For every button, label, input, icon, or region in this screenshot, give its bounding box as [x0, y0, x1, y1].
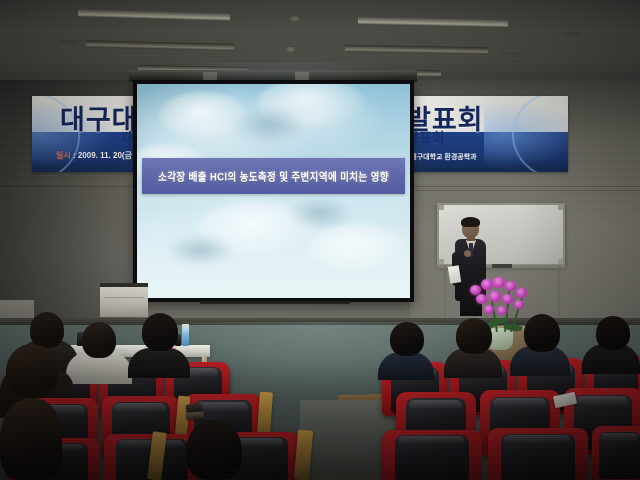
audience-hair — [6, 344, 58, 398]
slide-title-text: 소각장 배출 HCl의 농도측정 및 주변지역에 미치는 영향 — [158, 168, 389, 184]
seat-row1-6 — [592, 426, 640, 480]
audience-hair — [82, 322, 116, 358]
ceiling-light-fixture-2 — [358, 16, 508, 27]
seat-highlight — [576, 396, 627, 407]
audience-hair — [30, 312, 64, 348]
whiteboard-leg-right — [558, 266, 560, 316]
audience-body-3 — [128, 348, 190, 378]
whiteboard-corner-tr — [558, 205, 563, 210]
orchid-bloom-7 — [489, 291, 501, 302]
seat-book-2 — [186, 411, 204, 419]
wall-seam-lower — [415, 190, 640, 191]
screen-housing-cap-right — [295, 72, 309, 80]
audience-head-6 — [456, 318, 492, 354]
table-water-bottle-cap — [182, 324, 189, 327]
seat-highlight — [409, 400, 462, 410]
seat-highlight — [493, 398, 546, 409]
whiteboard-corner-br — [558, 259, 563, 264]
seat-highlight — [398, 436, 464, 445]
cloud-4 — [307, 224, 407, 272]
cloud-shadow-3 — [165, 234, 235, 266]
audience-head-1 — [30, 312, 64, 348]
orchid-bloom-8 — [502, 294, 513, 304]
ceiling-light-fixture-1 — [78, 9, 230, 21]
audience-head-8 — [596, 316, 630, 350]
audience-head-5 — [390, 322, 424, 356]
slide-title-bar: 소각장 배출 HCl의 농도측정 및 주변지역에 미치는 영향 — [142, 158, 405, 194]
cabinet-seam — [104, 297, 144, 298]
ceiling-speaker-1 — [288, 16, 301, 23]
projector-screen-base — [200, 300, 350, 304]
orchid-bloom-5 — [516, 288, 527, 298]
banner-right-dept: : 대구대학교 환경공학과 — [406, 152, 477, 162]
banner-left-date-value: 2009. 11. 20(금 — [78, 151, 132, 160]
presenter-hand — [464, 250, 471, 257]
audience-body-5 — [378, 352, 434, 380]
seat-highlight — [196, 402, 247, 412]
presenter-hair — [461, 217, 480, 227]
projector-screen: 소각장 배출 HCl의 농도측정 및 주변지역에 미치는 영향 — [133, 80, 414, 302]
slide-surface: 소각장 배출 HCl의 농도측정 및 주변지역에 미치는 영향 — [137, 84, 410, 298]
orchid-bloom-11 — [497, 306, 507, 315]
audience-head-foreground-2 — [186, 420, 242, 480]
orchid-bloom-9 — [514, 300, 524, 309]
cloud-shadow-1 — [233, 106, 307, 144]
orchid-bloom-3 — [493, 277, 505, 288]
seat-highlight — [601, 433, 638, 442]
screen-housing-cap-left — [203, 72, 217, 80]
audience-hair — [0, 398, 62, 480]
audience-hair — [186, 420, 242, 480]
banner-left-date-label: 일시 — [56, 151, 71, 160]
ceiling-vent-left — [12, 9, 28, 13]
seat-row1-5 — [488, 428, 588, 480]
orchid-bloom-2 — [481, 279, 493, 290]
orchid-bloom-10 — [484, 305, 494, 314]
ceiling-light-fixture-3 — [86, 40, 234, 51]
banner-left-date: 일시 : 2009. 11. 20(금 — [56, 150, 132, 161]
auditorium-presentation-photo: 대구대 대구 일시 : 2009. 11. 20(금 발표회 발표회 : 대구대… — [0, 0, 640, 480]
seat-highlight — [114, 403, 165, 413]
ceiling-vent-right-2 — [500, 52, 522, 57]
audience-head-3 — [142, 313, 178, 351]
audience-head-2 — [82, 322, 116, 358]
orchid-bloom-4 — [505, 281, 516, 291]
orchid-bloom-6 — [476, 294, 487, 304]
cloud-shadow-2 — [287, 196, 353, 230]
ceiling-speaker-2 — [285, 47, 296, 53]
audience-head-foreground-1 — [0, 398, 62, 480]
seat-row1-4 — [382, 430, 482, 480]
banner-right: 발표회 발표회 : 대구대학교 환경공학과 — [398, 96, 568, 172]
whiteboard-corner-tl — [439, 205, 444, 210]
audience-hair — [456, 318, 492, 354]
ceiling-light-fixture-4 — [345, 45, 488, 54]
audience-hair — [524, 314, 560, 352]
audience-hair — [142, 313, 178, 351]
seat-highlight — [504, 435, 570, 444]
audience-head-4 — [6, 344, 58, 398]
whiteboard-corner-bl — [439, 259, 444, 264]
audience-head-7 — [524, 314, 560, 352]
table-water-bottle — [182, 326, 189, 346]
ceiling-vent-right — [566, 32, 580, 36]
wall-cabinet — [100, 283, 148, 317]
ceiling-vent-left-2 — [60, 40, 78, 44]
whiteboard-eraser — [492, 264, 512, 268]
whiteboard-leg-left — [444, 266, 446, 318]
presenter-neck — [467, 235, 475, 241]
audience-hair — [390, 322, 424, 356]
audience-hair — [596, 316, 630, 350]
